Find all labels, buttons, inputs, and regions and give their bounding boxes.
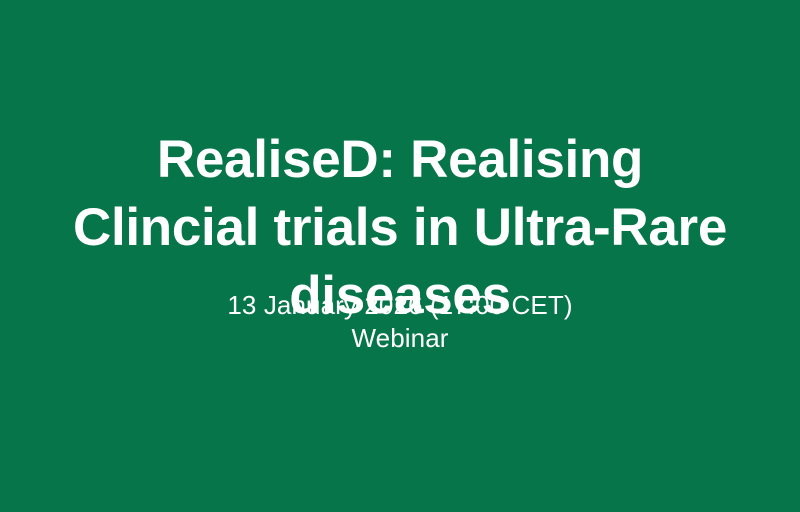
event-datetime: 13 January 2026 (17:00 CET) (50, 289, 750, 322)
event-meta: 13 January 2026 (17:00 CET) Webinar (50, 289, 750, 355)
event-format: Webinar (50, 322, 750, 355)
event-banner: RealiseD: Realising Clincial trials in U… (0, 0, 800, 512)
